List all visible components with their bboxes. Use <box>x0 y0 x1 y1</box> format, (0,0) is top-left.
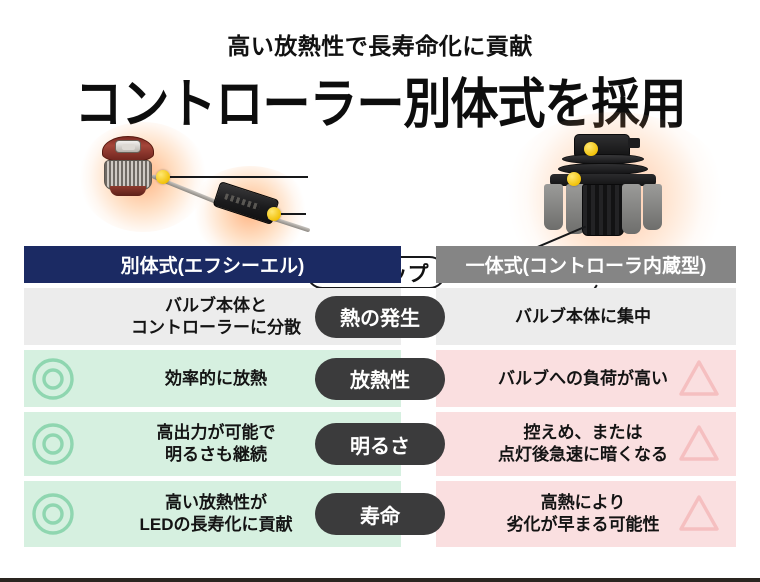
row-criterion-pill: 熱の発生 <box>315 296 445 338</box>
integrated-bulb-top <box>574 134 630 156</box>
bottom-strip <box>0 578 760 582</box>
marker-dot-led-left <box>156 170 170 184</box>
row-right-line1: 高熱により <box>541 492 626 514</box>
row-right-text: 控えめ、または 点灯後急速に暗くなる <box>452 412 714 476</box>
product-illustration: LEDチップ コントローラー <box>0 118 760 238</box>
row-criterion-label: 明るさ <box>350 430 410 459</box>
column-header-integrated: 一体式(コントローラ内蔵型) <box>436 246 736 283</box>
row-right-text: 高熱により 劣化が早まる可能性 <box>452 481 714 547</box>
double-circle-icon <box>30 356 76 402</box>
row-left-line1: 効率的に放熱 <box>165 368 267 390</box>
row-left-line2: コントローラーに分散 <box>131 317 301 339</box>
double-circle-icon <box>30 421 76 467</box>
row-criterion-pill: 放熱性 <box>315 358 445 400</box>
row-criterion-pill: 寿命 <box>315 493 445 535</box>
column-header-separate: 別体式(エフシーエル) <box>24 246 401 283</box>
row-criterion-label: 熱の発生 <box>340 302 420 331</box>
integrated-bulb-tab <box>628 138 640 148</box>
table-row: 高出力が可能で 明るさも継続 明るさ 控えめ、または 点灯後急速に暗くなる <box>0 412 760 476</box>
bulb-base <box>110 186 146 196</box>
row-right-line1: 控えめ、または <box>524 422 643 444</box>
row-criterion-label: 寿命 <box>360 500 400 529</box>
row-right-line2: 劣化が早まる可能性 <box>507 514 660 536</box>
row-criterion-pill: 明るさ <box>315 423 445 465</box>
row-right-text: バルブ本体に集中 <box>452 288 714 345</box>
triangle-icon <box>676 491 722 537</box>
separate-type-bulb-image <box>98 136 160 198</box>
marker-dot-controller-right <box>567 172 581 186</box>
triangle-icon <box>676 356 722 402</box>
row-left-line1: 高い放熱性が <box>165 492 267 514</box>
marker-dot-led-right <box>584 142 598 156</box>
table-row: 効率的に放熱 放熱性 バルブへの負荷が高い <box>0 350 760 407</box>
integrated-bulb-core <box>582 184 624 236</box>
table-header-row: 別体式(エフシーエル) 一体式(コントローラ内蔵型) <box>0 246 760 283</box>
integrated-bulb-fin <box>622 184 641 234</box>
row-left-line1: バルブ本体と <box>165 295 267 317</box>
comparison-table: 別体式(エフシーエル) 一体式(コントローラ内蔵型) バルブ本体と コントローラ… <box>0 246 760 547</box>
row-right-text: バルブへの負荷が高い <box>452 350 714 407</box>
leader-line-led-left <box>168 176 308 178</box>
row-left-line2: LEDの長寿化に貢献 <box>140 514 293 536</box>
row-right-line2: 点灯後急速に暗くなる <box>498 444 668 466</box>
subtitle: 高い放熱性で長寿命化に貢献 <box>0 27 760 61</box>
row-left-line1: 高出力が可能で <box>157 422 276 444</box>
table-row: バルブ本体と コントローラーに分散 熱の発生 バルブ本体に集中 <box>0 288 760 345</box>
column-header-separate-label: 別体式(エフシーエル) <box>121 251 305 278</box>
marker-dot-controller-left <box>267 207 281 221</box>
infographic-page: 高い放熱性で長寿命化に貢献 コントローラー別体式を採用 <box>0 0 760 582</box>
column-header-integrated-label: 一体式(コントローラ内蔵型) <box>466 251 707 278</box>
row-criterion-label: 放熱性 <box>350 364 410 393</box>
row-left-line2: 明るさも継続 <box>165 444 267 466</box>
row-right-line1: バルブ本体に集中 <box>515 306 651 328</box>
table-row: 高い放熱性が LEDの長寿化に貢献 寿命 高熱により 劣化が早まる可能性 <box>0 481 760 547</box>
triangle-icon <box>676 421 722 467</box>
leader-line-controller-left <box>278 213 306 215</box>
double-circle-icon <box>30 491 76 537</box>
integrated-bulb-fin <box>643 184 662 230</box>
integrated-type-bulb-image <box>536 134 668 240</box>
led-chip-element <box>115 140 141 153</box>
row-right-line1: バルブへの負荷が高い <box>498 368 668 390</box>
integrated-bulb-fin <box>544 184 563 230</box>
